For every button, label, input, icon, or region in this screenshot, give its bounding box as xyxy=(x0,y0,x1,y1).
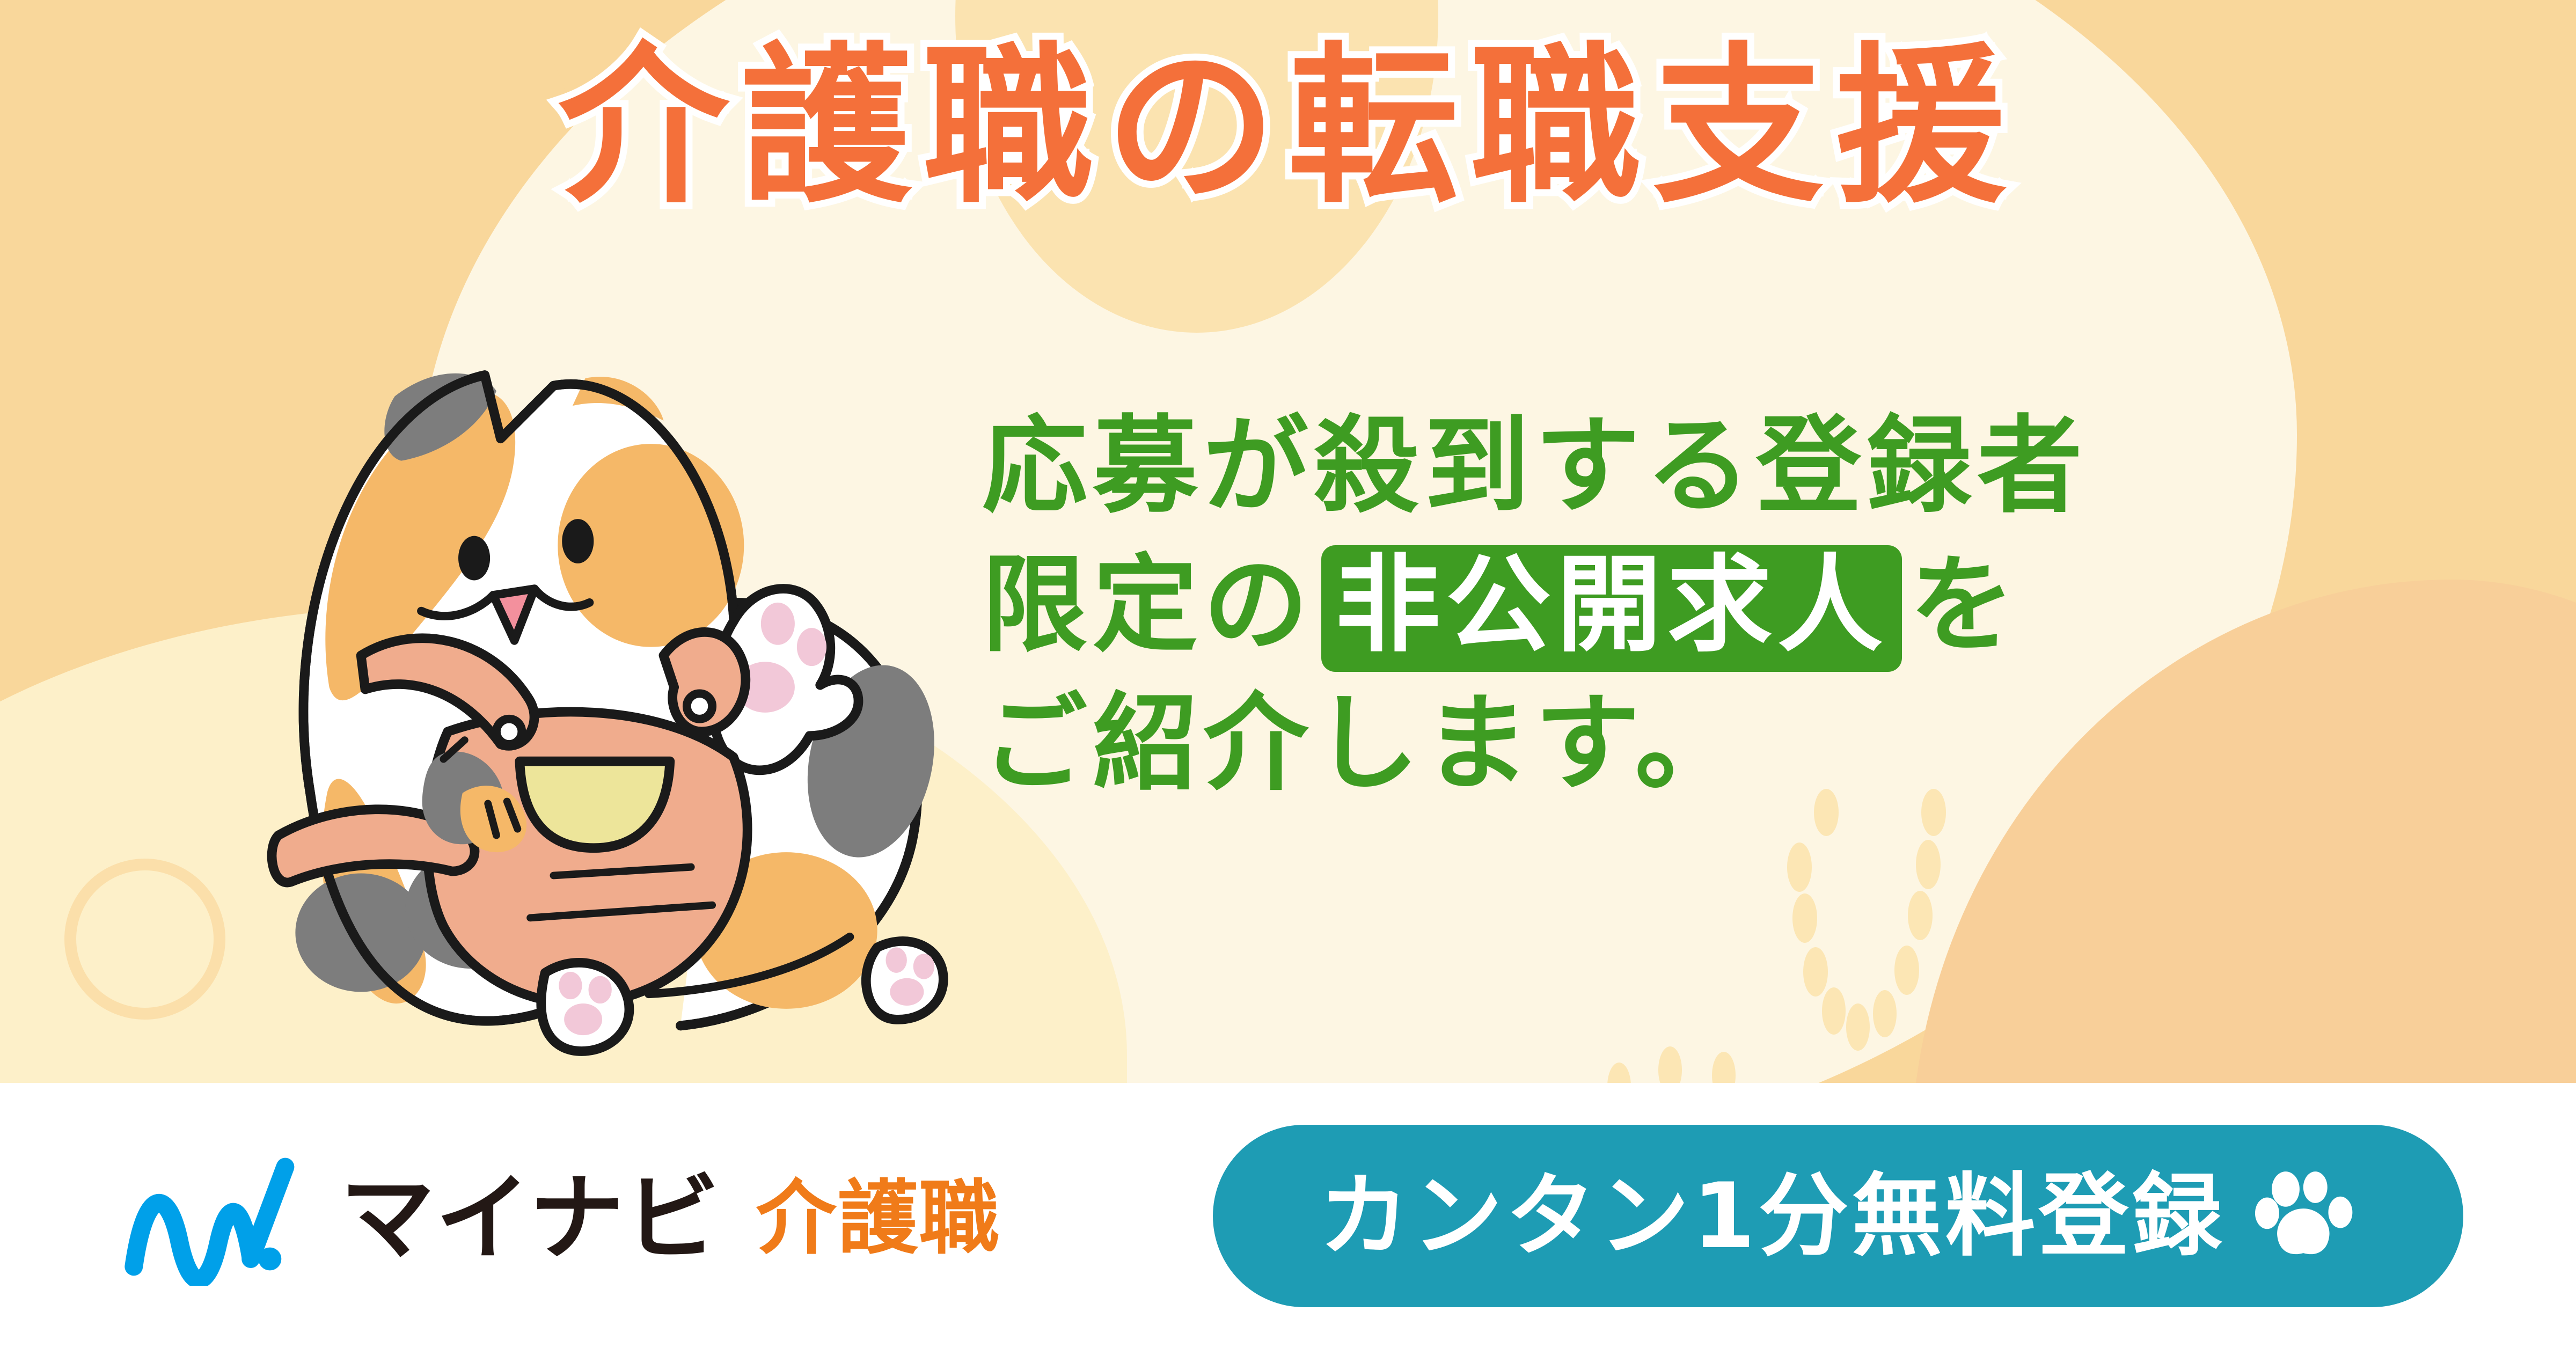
copy-line-3: ご紹介します。 xyxy=(982,675,2463,814)
brand-name: マイナビ xyxy=(340,1171,720,1266)
headline-title: 介護職の転職支援 xyxy=(0,12,2576,242)
marketing-copy: 応募が殺到する登録者 限定の非公開求人を ご紹介します。 xyxy=(982,397,2463,814)
decor-ring-lower-left xyxy=(64,859,225,1020)
copy-line-1: 応募が殺到する登録者 xyxy=(982,397,2463,536)
calico-cat-illustration xyxy=(236,333,977,1084)
promo-banner: 介護職の転職支援 xyxy=(0,0,2576,1348)
highlight-badge-hikokai-kyujin: 非公開求人 xyxy=(1321,545,1902,672)
decor-dot xyxy=(1803,947,1828,997)
brand-logo[interactable]: マイナビ 介護職 xyxy=(123,1152,1001,1286)
footer-bar: マイナビ 介護職 カンタン1分無料登録 xyxy=(0,1083,2576,1348)
decor-dot xyxy=(1873,990,1897,1037)
copy-line-2: 限定の非公開求人を xyxy=(982,536,2463,675)
decor-dot xyxy=(1908,891,1933,940)
decor-dot xyxy=(1792,893,1817,943)
copy-line-2-suffix: を xyxy=(1909,544,2020,666)
decor-dot xyxy=(1822,987,1846,1035)
decor-dot xyxy=(1787,843,1812,892)
decor-dot xyxy=(1846,1003,1870,1051)
mynavi-wave-mark-icon xyxy=(123,1152,317,1286)
cta-register-button[interactable]: カンタン1分無料登録 xyxy=(1213,1125,2463,1307)
decor-dot xyxy=(1894,946,1919,995)
copy-line-2-prefix: 限定の xyxy=(982,544,1314,666)
cta-label: カンタン1分無料登録 xyxy=(1319,1171,2226,1261)
decor-dot xyxy=(1916,840,1941,889)
service-name: 介護職 xyxy=(756,1178,1000,1259)
paw-print-icon xyxy=(2255,1171,2357,1261)
